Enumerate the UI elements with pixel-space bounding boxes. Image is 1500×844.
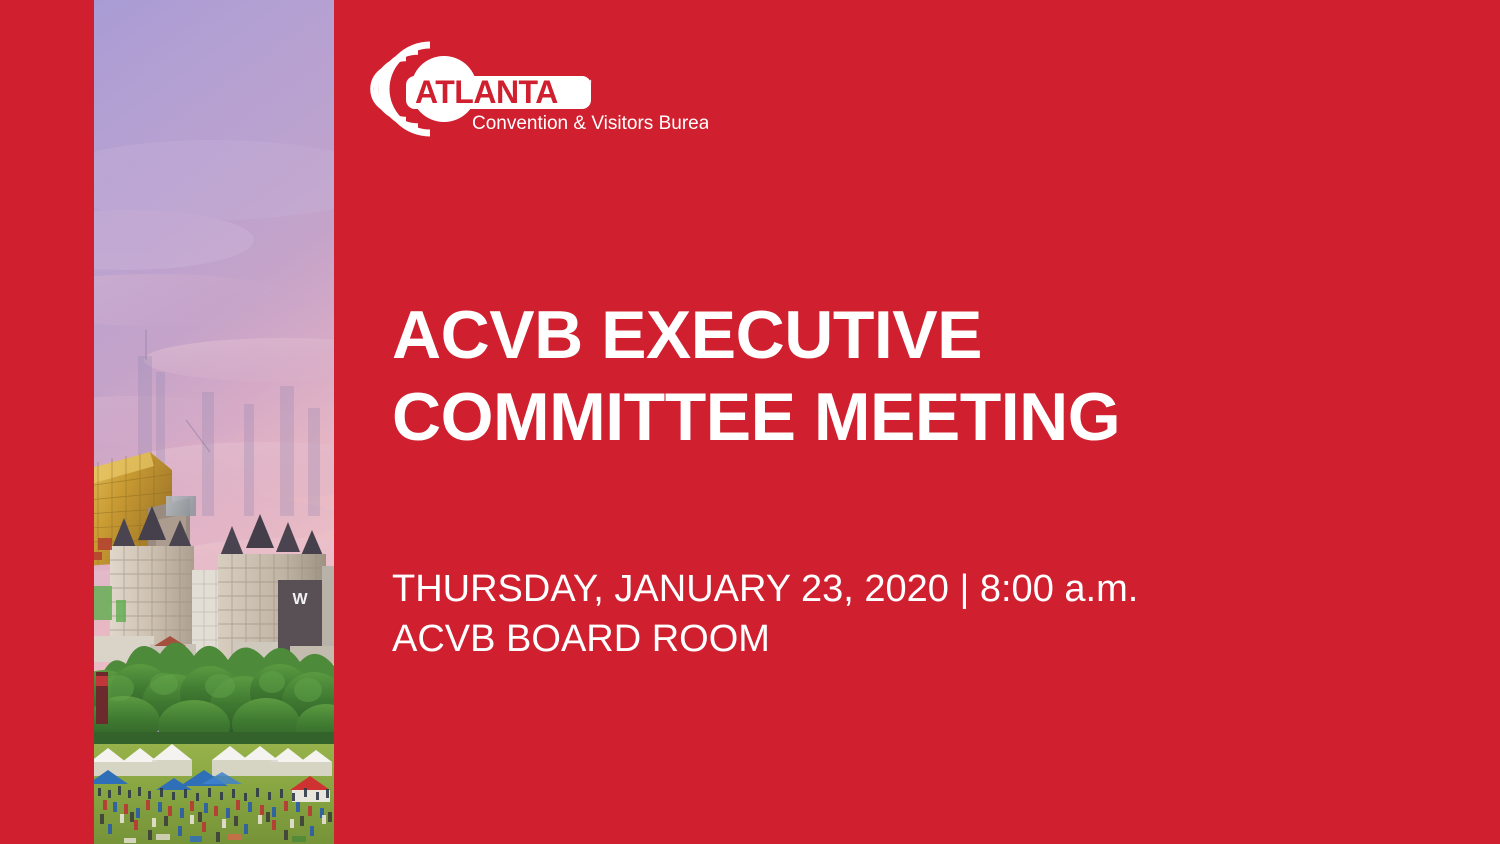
page-title: ACVB EXECUTIVE COMMITTEE MEETING	[392, 294, 1392, 458]
meeting-details: THURSDAY, JANUARY 23, 2020 | 8:00 a.m. A…	[392, 564, 1392, 664]
title-line-2: COMMITTEE MEETING	[392, 376, 1392, 458]
logo-wordmark-text: ATLANTA	[415, 74, 558, 110]
logo-trademark-symbol: ™	[583, 78, 592, 88]
logo-tagline: Convention & Visitors Bureau	[472, 113, 708, 134]
title-line-1: ACVB EXECUTIVE	[392, 294, 1392, 376]
acvb-logo: ATLANTA ™ Convention & Visitors Bureau	[368, 33, 708, 145]
meeting-datetime: THURSDAY, JANUARY 23, 2020 | 8:00 a.m.	[392, 564, 1392, 614]
atlanta-skyline-photo-strip: W	[94, 0, 334, 844]
presentation-slide: W	[0, 0, 1500, 844]
w-hotel-sign: W	[292, 591, 308, 608]
meeting-location: ACVB BOARD ROOM	[392, 614, 1392, 664]
